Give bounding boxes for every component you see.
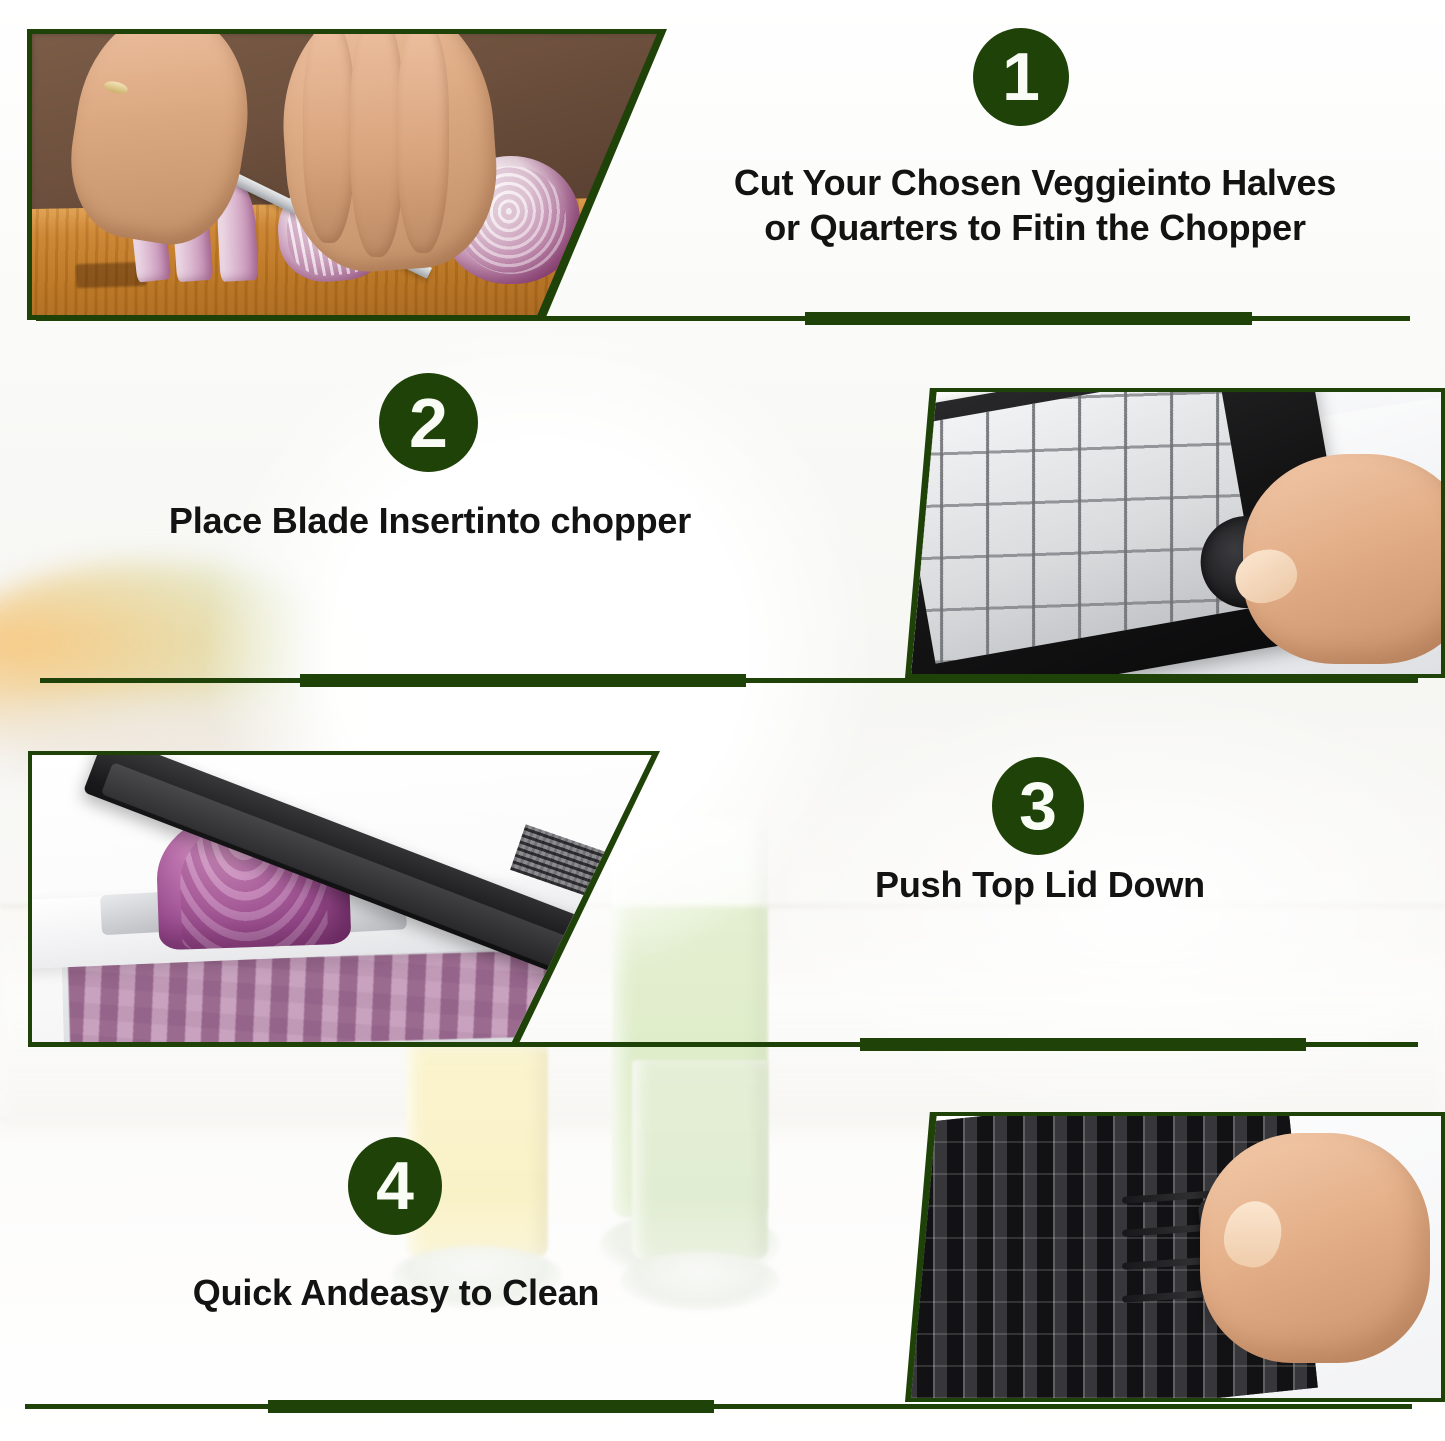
step-1-number-badge: 1 [973, 28, 1069, 126]
divider-4-thin [25, 1404, 1412, 1409]
step-4-photo [905, 1112, 1445, 1402]
divider-4-thick [268, 1400, 714, 1413]
step-2-caption: Place Blade Insertinto chopper [70, 498, 790, 543]
step-1-number: 1 [1002, 43, 1040, 111]
blade-insert-illustration [909, 392, 1441, 674]
step-2-number-badge: 2 [379, 373, 478, 472]
step-2-photo [905, 388, 1445, 678]
chopper-press-illustration [32, 755, 656, 1043]
step-3-number-badge: 3 [992, 757, 1084, 855]
step-2-number: 2 [409, 388, 448, 458]
step-4-number: 4 [376, 1152, 414, 1220]
cleaning-comb-illustration [909, 1116, 1441, 1398]
infographic-stage: 1 Cut Your Chosen Veggieinto Halves or Q… [0, 0, 1445, 1441]
step-3-photo [28, 751, 660, 1047]
step-3-number: 3 [1019, 772, 1057, 840]
onion-cutting-illustration [32, 34, 662, 315]
step-3-caption: Push Top Lid Down [760, 862, 1320, 907]
divider-1-thick [805, 312, 1252, 325]
divider-3-thick [860, 1038, 1306, 1051]
step-4-number-badge: 4 [348, 1137, 442, 1235]
divider-2-thick [300, 674, 746, 687]
step-1-caption: Cut Your Chosen Veggieinto Halves or Qua… [665, 160, 1405, 251]
step-4-caption: Quick Andeasy to Clean [110, 1270, 682, 1315]
step-1-photo [27, 29, 667, 320]
